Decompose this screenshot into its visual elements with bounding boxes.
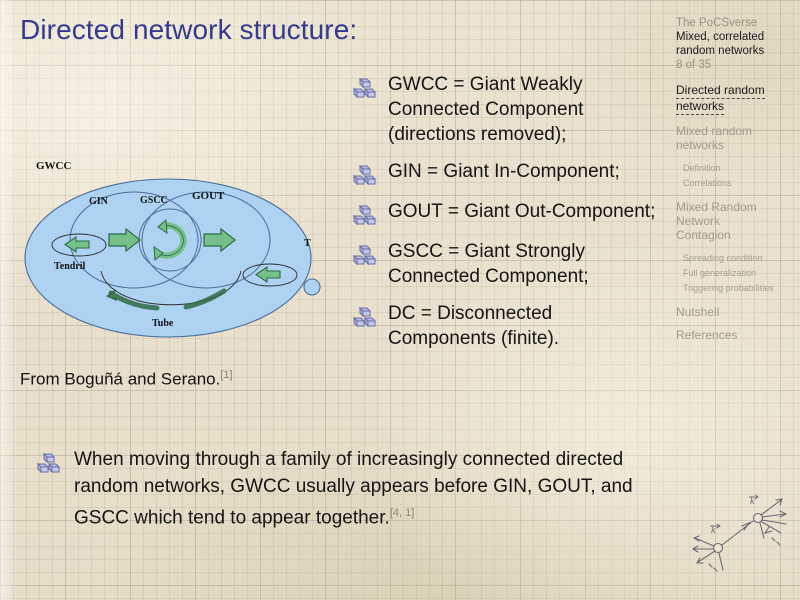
cube-stack-icon: [352, 205, 376, 227]
sidebar-item-mixed-random-networks[interactable]: Mixed random networks: [676, 124, 796, 152]
list-item: GIN = Giant In-Component;: [352, 159, 664, 187]
cube-stack-icon: [352, 307, 376, 329]
cube-stack-icon: [36, 453, 60, 475]
slide-canvas: Directed network structure: The PoCSvers…: [0, 0, 800, 600]
cube-stack-icon: [352, 165, 376, 187]
list-item-label: GIN = Giant In-Component;: [388, 159, 620, 184]
label-tube: Tube: [152, 318, 174, 329]
sidebar-item-label: Mixed random: [676, 124, 752, 138]
gwcc-blob: [169, 353, 171, 354]
list-item-label: GSCC = Giant Strongly Connected Componen…: [388, 239, 664, 289]
summary-text-wrapper: When moving through a family of increasi…: [74, 446, 656, 531]
sidebar-item-label-cont: Network: [676, 214, 720, 228]
label-tendril-right-clipped: T: [304, 238, 311, 249]
sidebar-item-directed-random-networks[interactable]: Directed random networks: [676, 83, 796, 115]
list-item: GSCC = Giant Strongly Connected Componen…: [352, 239, 664, 289]
page-title: Directed network structure:: [20, 14, 357, 46]
sidebar-spacer: [676, 191, 796, 200]
directed-network-structure-diagram: DC GWCC GIN GOUT GSCC: [16, 104, 336, 354]
summary-block: When moving through a family of increasi…: [36, 446, 656, 531]
sidebar-item-label-cont2: Contagion: [676, 228, 731, 242]
summary-citation: [4, 1]: [390, 507, 414, 519]
sidebar-spacer-2: [676, 296, 796, 305]
sidebar-slide-count: 8 of 35: [676, 58, 796, 73]
sidebar-subject-line-2: random networks: [676, 44, 796, 58]
sketch-label-k-prime: k′: [711, 525, 718, 536]
sidebar-item-triggering-probabilities[interactable]: Triggering probabilities: [676, 281, 796, 296]
sidebar-item-label: Directed random: [676, 83, 765, 99]
label-gscc: GSCC: [140, 195, 168, 206]
sidebar-item-nutshell[interactable]: Nutshell: [676, 305, 796, 319]
left-edge-highlight: [0, 0, 16, 600]
cube-stack-icon: [352, 78, 376, 100]
figure-caption: From Boguñá and Serano.[1]: [20, 369, 233, 390]
list-item: GOUT = Giant Out-Component;: [352, 199, 664, 227]
label-gwcc: GWCC: [36, 160, 72, 172]
list-item-label: GWCC = Giant Weakly Connected Component …: [388, 72, 664, 147]
label-gout: GOUT: [192, 190, 225, 202]
sidebar-item-label: Mixed Random: [676, 200, 757, 214]
label-tendril-left: Tendril: [54, 261, 86, 272]
sidebar-item-label-cont: networks: [676, 138, 724, 152]
sidebar-subject-line-1: Mixed, correlated: [676, 30, 796, 44]
sidebar-navigation: The PoCSverse Mixed, correlated random n…: [676, 16, 796, 351]
summary-text: When moving through a family of increasi…: [74, 449, 633, 528]
list-item-label: GOUT = Giant Out-Component;: [388, 199, 655, 224]
list-item-label: DC = Disconnected Components (finite).: [388, 301, 664, 351]
sidebar-deck-title: The PoCSverse: [676, 16, 796, 30]
sidebar-item-full-generalization[interactable]: Full generalization: [676, 266, 796, 281]
sidebar-item-label-cont: networks: [676, 99, 724, 115]
degree-vector-sketch: k′ k: [686, 486, 794, 586]
cube-stack-icon: [352, 245, 376, 267]
list-item: GWCC = Giant Weakly Connected Component …: [352, 72, 664, 147]
label-gin: GIN: [89, 196, 109, 207]
sidebar-item-correlations[interactable]: Correlations: [676, 176, 796, 191]
sidebar-item-definition[interactable]: Definition: [676, 161, 796, 176]
sidebar-item-references[interactable]: References: [676, 328, 796, 342]
list-item: DC = Disconnected Components (finite).: [352, 301, 664, 351]
definitions-list: GWCC = Giant Weakly Connected Component …: [352, 72, 664, 363]
figure-caption-citation: [1]: [220, 369, 232, 381]
sidebar-item-spreading-condition[interactable]: Spreading condition: [676, 251, 796, 266]
sketch-label-k: k: [750, 496, 755, 507]
figure-caption-text: From Boguñá and Serano.: [20, 370, 220, 389]
sidebar-item-mixed-random-network-contagion[interactable]: Mixed Random Network Contagion: [676, 200, 796, 242]
